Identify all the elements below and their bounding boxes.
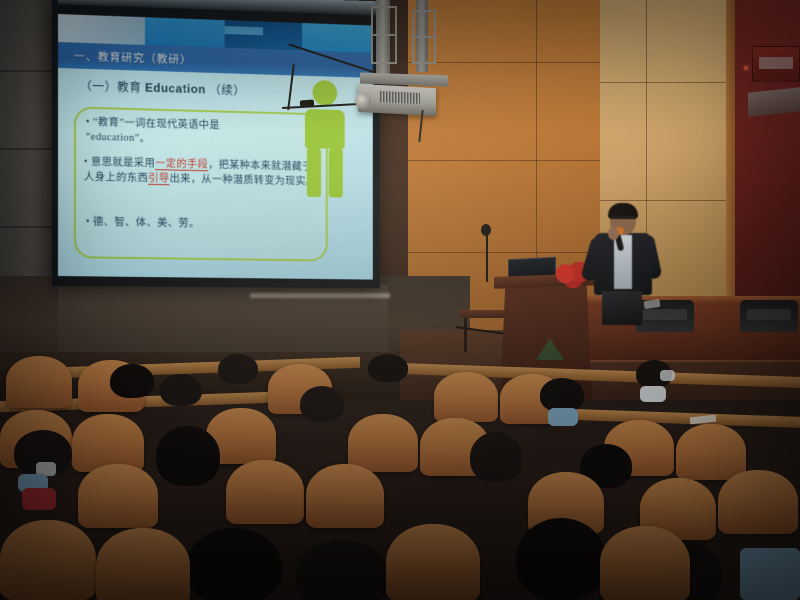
presenter-legs: [602, 291, 642, 325]
slide-subtitle-english: Education: [145, 81, 206, 97]
attendee-head: [540, 378, 584, 412]
attendee-head: [296, 540, 388, 600]
microphone-icon: [481, 224, 491, 236]
attendee-torso: [22, 488, 56, 510]
attendee-torso: [548, 408, 578, 426]
seat: [226, 460, 304, 524]
seat: [6, 356, 72, 408]
slide-header-text: 一、教育研究（教研）: [58, 47, 192, 67]
attendee-head: [218, 354, 258, 384]
bullet-1-line-1: “教育”一词在现代英语中是: [86, 117, 220, 131]
seat: [676, 424, 746, 480]
attendee-head: [186, 528, 282, 600]
bullet-2-pre: 意思就是采用: [84, 157, 155, 170]
seat: [72, 414, 144, 472]
seat: [0, 520, 96, 600]
wall-light-strip: [250, 293, 390, 298]
stage-chair: [740, 300, 798, 332]
attendee-head: [516, 518, 606, 600]
presenter: [588, 205, 658, 315]
seat: [348, 414, 418, 472]
presentation-slide: 一、教育研究（教研） （一）教育 Education （续） “教育”一词在现代…: [58, 14, 373, 280]
attendee-head: [160, 374, 202, 406]
bullet-2-emphasis-2: 引导: [148, 173, 169, 185]
attendee-head: [368, 354, 408, 382]
bullet-2-post: 出来，从一种潜质转变为现实。: [170, 173, 317, 187]
projector-lens-icon: [355, 93, 371, 109]
attendee-head: [110, 364, 154, 398]
seat: [96, 528, 190, 600]
eyeglasses-icon: [610, 216, 636, 223]
scissor-link-icon: [412, 10, 436, 38]
bullet-3-line-1: 德、智、体、美、劳。: [86, 216, 200, 229]
audience-seating: [0, 352, 800, 600]
seat: [600, 526, 690, 600]
face-mask-icon: [660, 370, 675, 381]
attendee-head: [470, 432, 522, 482]
lecture-hall-photo: 一、教育研究（教研） （一）教育 Education （续） “教育”一词在现代…: [0, 0, 800, 600]
slide-subtitle-suffix: （续）: [209, 83, 245, 98]
indicator-light-icon: [744, 66, 748, 70]
slide-bullet-2: 意思就是采用一定的手段，把某种本来就潜藏于人身上的东西引导出来，从一种潜质转变为…: [84, 155, 320, 190]
projector-vent: [380, 91, 420, 104]
seat: [434, 372, 498, 422]
bullet-2-emphasis-1: 一定的手段: [155, 158, 208, 171]
person-pictogram-icon: [299, 80, 350, 200]
microphone-stand: [486, 230, 488, 282]
presenter-hand: [608, 227, 619, 240]
scissor-link-icon: [371, 34, 397, 64]
attendee-head: [300, 386, 344, 422]
slide-subtitle-prefix: （一）教育: [80, 79, 142, 95]
bullet-1-line-2: “education”。: [86, 132, 150, 145]
seat: [718, 470, 798, 534]
attendee-head: [156, 426, 220, 486]
wire-clamp: [300, 100, 314, 108]
seat: [306, 464, 384, 528]
scissor-link-icon: [371, 6, 397, 36]
slide-bullet-1: “教育”一词在现代英语中是 “education”。: [86, 115, 315, 150]
seat: [386, 524, 480, 600]
slide-subtitle: （一）教育 Education （续）: [80, 77, 245, 99]
exit-sign-icon: [752, 46, 800, 82]
slide-bullet-3: 德、智、体、美、劳。: [86, 214, 280, 232]
attendee-torso: [740, 548, 800, 600]
seat: [78, 464, 158, 528]
scissor-link-icon: [412, 36, 436, 64]
attendee-torso: [640, 386, 666, 402]
